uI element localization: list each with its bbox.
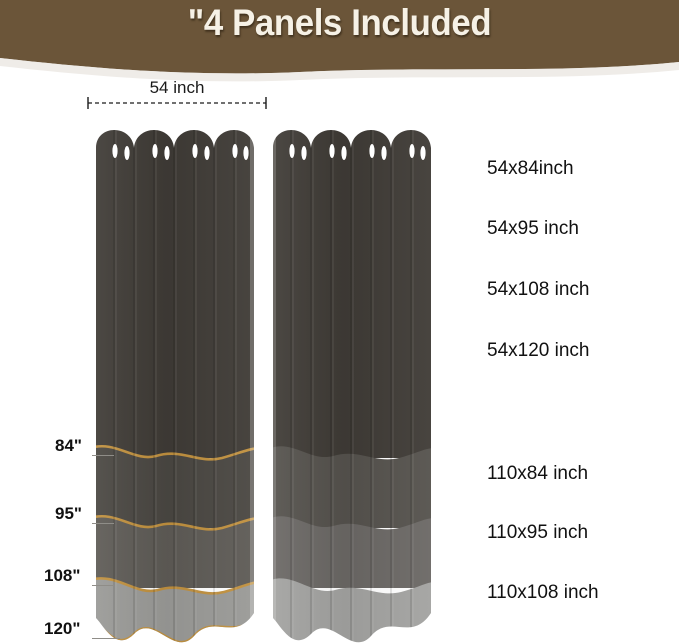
size-option-54x84: 54x84inch — [487, 158, 574, 180]
infographic-canvas: "4 Panels Included 54 inch — [0, 0, 679, 643]
callout-leader-120 — [92, 638, 120, 639]
callout-leader-108 — [92, 585, 114, 586]
curtain-panel-left — [94, 118, 258, 643]
callout-84: 84" — [55, 436, 82, 456]
width-measure-label: 54 inch — [88, 78, 266, 98]
callout-120: 120" — [44, 619, 80, 639]
callout-95: 95" — [55, 504, 82, 524]
curtain-panel-right — [271, 118, 435, 643]
dimension-arrow-icon — [86, 96, 268, 108]
size-option-110x84: 110x84 inch — [487, 463, 588, 485]
size-option-54x120: 54x120 inch — [487, 340, 589, 362]
callout-108: 108" — [44, 566, 80, 586]
size-option-110x95: 110x95 inch — [487, 522, 588, 544]
callout-leader-84 — [92, 455, 114, 456]
callout-leader-95 — [92, 523, 114, 524]
size-option-110x108: 110x108 inch — [487, 582, 599, 604]
banner-shape — [0, 0, 679, 73]
size-option-54x108: 54x108 inch — [487, 279, 589, 301]
size-option-54x95: 54x95 inch — [487, 218, 579, 240]
